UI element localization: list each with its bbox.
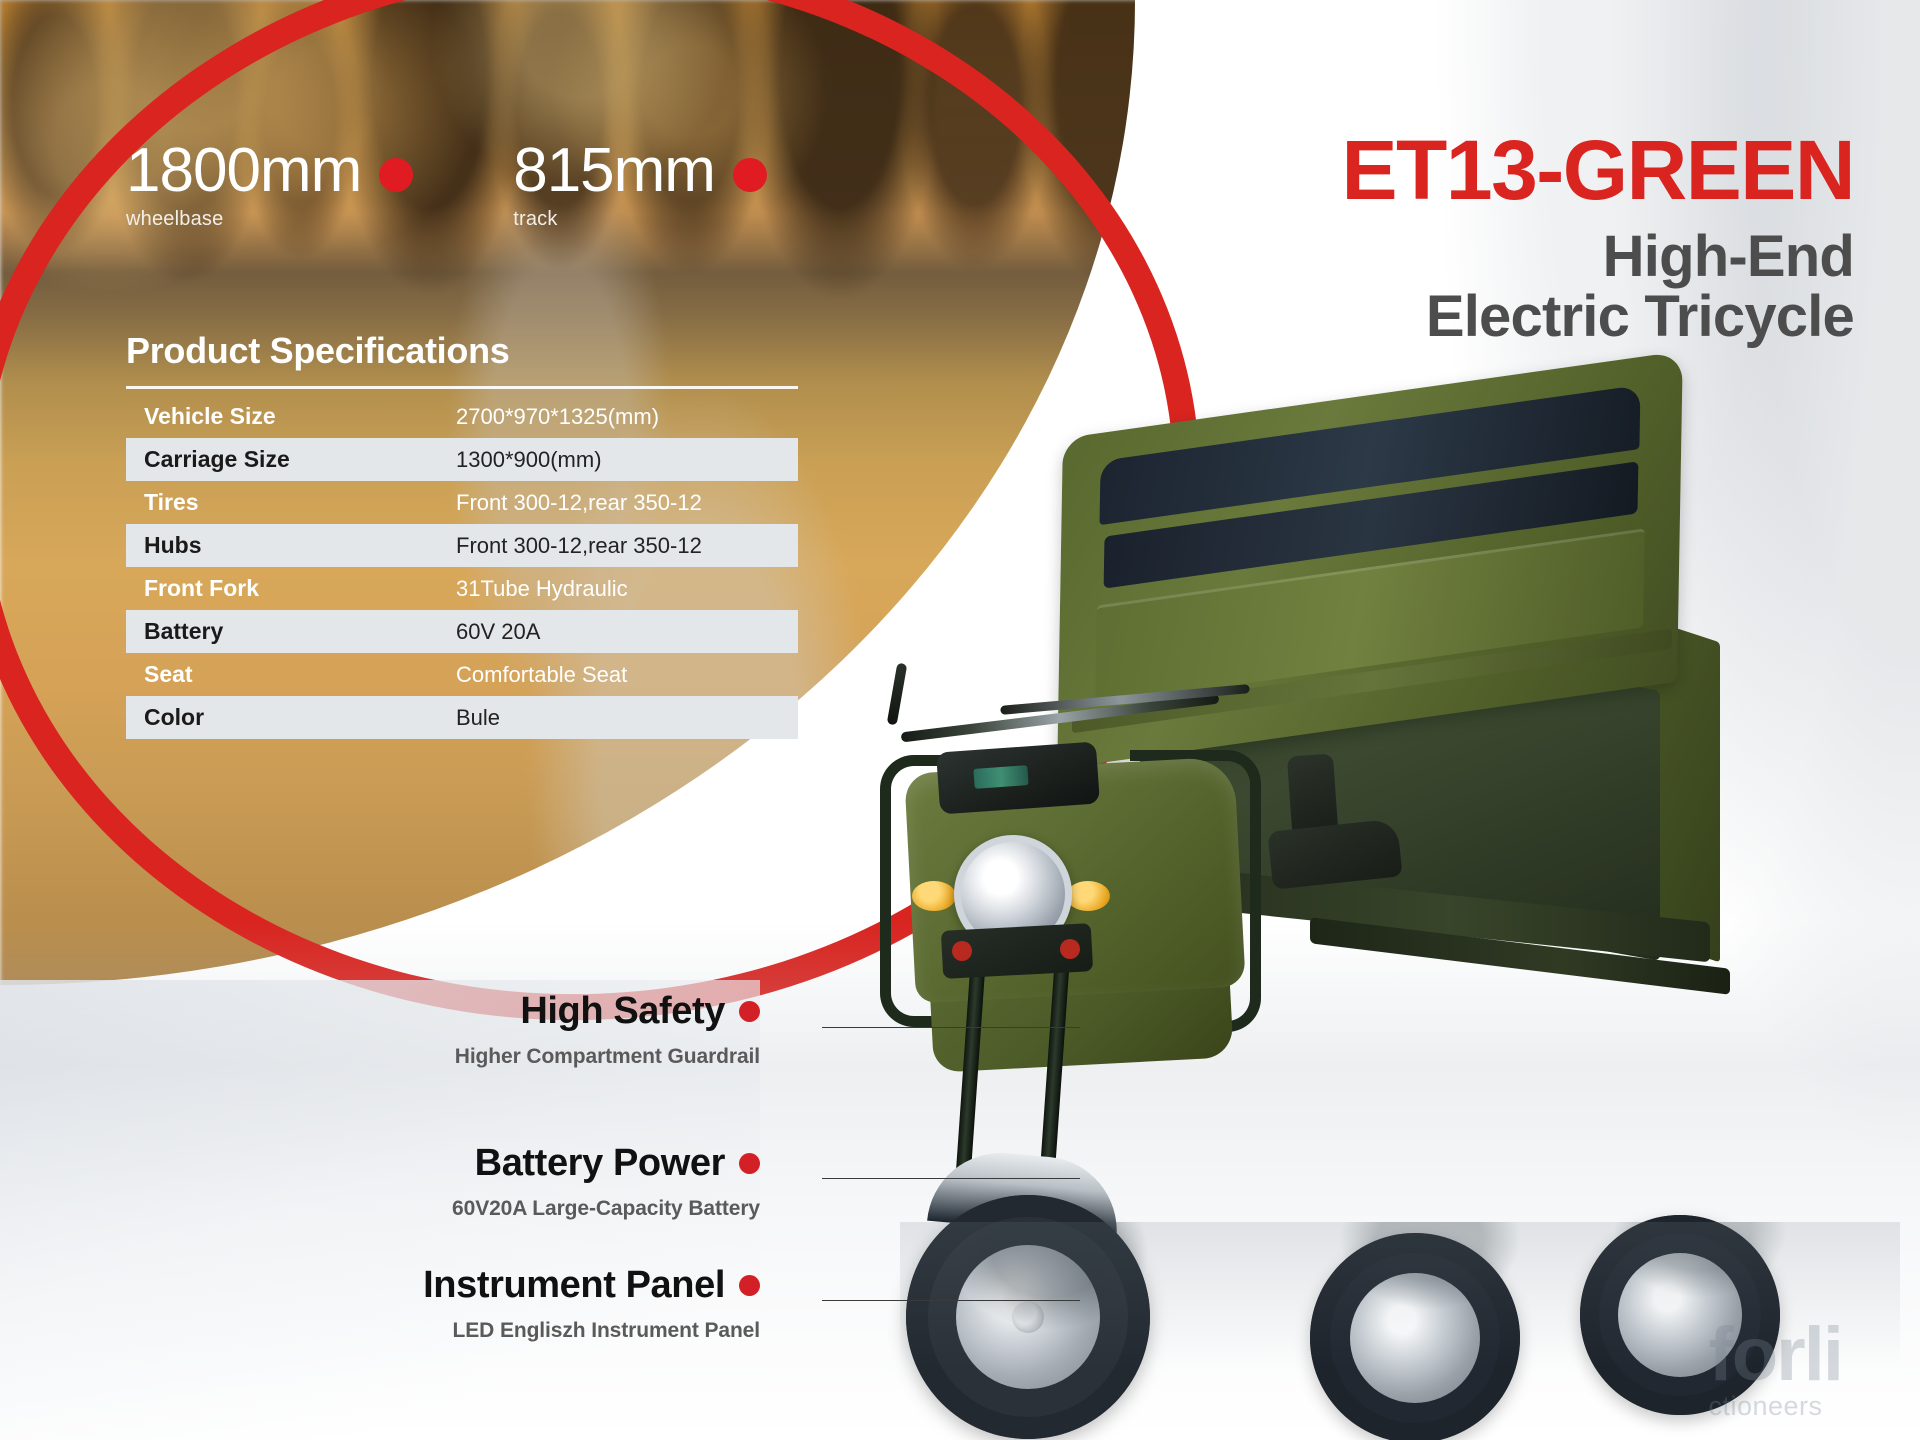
spec-key: Vehicle Size [126, 403, 456, 430]
product-tagline: High-End Electric Tricycle [1342, 227, 1854, 348]
instrument-lcd-screen [973, 765, 1028, 789]
red-dot-icon [739, 1275, 760, 1296]
table-row: Front Fork 31Tube Hydraulic [126, 567, 798, 610]
dimension-track: 815mm track [513, 140, 767, 231]
leader-line-high-safety [822, 1027, 1080, 1028]
spec-value: 60V 20A [456, 619, 798, 645]
spec-table: Vehicle Size 2700*970*1325(mm) Carriage … [126, 395, 798, 739]
feature-title: Instrument Panel [423, 1264, 725, 1307]
table-row: Vehicle Size 2700*970*1325(mm) [126, 395, 798, 438]
feature-subtitle: 60V20A Large-Capacity Battery [0, 1197, 760, 1221]
leader-line-instrument-panel [822, 1300, 1080, 1301]
feature-high-safety: High Safety Higher Compartment Guardrail [0, 990, 760, 1069]
tagline-line-2: Electric Tricycle [1342, 287, 1854, 347]
spec-key: Front Fork [126, 575, 456, 602]
turn-signal-right-icon [1066, 881, 1110, 911]
spec-value: 2700*970*1325(mm) [456, 404, 798, 430]
front-axle [1012, 1301, 1044, 1333]
rear-hub-near [1350, 1273, 1480, 1403]
leader-line-battery-power [822, 1178, 1080, 1179]
spec-value: Bule [456, 705, 798, 731]
control-button-left [952, 941, 972, 961]
spec-key: Hubs [126, 532, 456, 559]
feature-battery-power: Battery Power 60V20A Large-Capacity Batt… [0, 1142, 760, 1221]
feature-title: Battery Power [475, 1142, 725, 1185]
spec-value: 31Tube Hydraulic [456, 576, 798, 602]
electric-tricycle-illustration [890, 395, 1900, 1295]
table-row: Hubs Front 300-12,rear 350-12 [126, 524, 798, 567]
red-dot-icon [733, 158, 767, 192]
feature-title: High Safety [520, 990, 725, 1033]
product-poster: 1800mm wheelbase 815mm track Product Spe… [0, 0, 1920, 1440]
table-row: Tires Front 300-12,rear 350-12 [126, 481, 798, 524]
dimension-label: wheelbase [126, 208, 413, 231]
dimension-label: track [513, 208, 767, 231]
spec-value: Front 300-12,rear 350-12 [456, 490, 798, 516]
page-title: ET13-GREEN [1342, 130, 1854, 211]
dimension-callouts: 1800mm wheelbase 815mm track [126, 140, 767, 231]
spec-value: 1300*900(mm) [456, 447, 798, 473]
tagline-line-1: High-End [1342, 227, 1854, 287]
dimension-value: 1800mm [126, 140, 361, 202]
spec-value: Comfortable Seat [456, 662, 798, 688]
spec-key: Tires [126, 489, 456, 516]
spec-heading-underline [126, 386, 798, 389]
feature-subtitle: LED Engliszh Instrument Panel [0, 1319, 760, 1343]
spec-key: Battery [126, 618, 456, 645]
control-button-right [1060, 939, 1080, 959]
feature-instrument-panel: Instrument Panel LED Engliszh Instrument… [0, 1264, 760, 1343]
table-row: Battery 60V 20A [126, 610, 798, 653]
feature-subtitle: Higher Compartment Guardrail [0, 1045, 760, 1069]
turn-signal-left-icon [912, 881, 956, 911]
table-row: Seat Comfortable Seat [126, 653, 798, 696]
spec-key: Seat [126, 661, 456, 688]
dimension-value: 815mm [513, 140, 715, 202]
dimension-wheelbase: 1800mm wheelbase [126, 140, 413, 231]
red-dot-icon [739, 1001, 760, 1022]
spec-value: Front 300-12,rear 350-12 [456, 533, 798, 559]
spec-key: Color [126, 704, 456, 731]
spec-heading: Product Specifications [126, 330, 798, 372]
product-title-block: ET13-GREEN High-End Electric Tricycle [1342, 130, 1854, 347]
spec-key: Carriage Size [126, 446, 456, 473]
table-row: Carriage Size 1300*900(mm) [126, 438, 798, 481]
table-row: Color Bule [126, 696, 798, 739]
red-dot-icon [379, 158, 413, 192]
product-specifications-block: Product Specifications Vehicle Size 2700… [126, 330, 798, 739]
rear-hub-far [1618, 1253, 1742, 1377]
mirror-stalk [887, 663, 908, 726]
red-dot-icon [739, 1153, 760, 1174]
